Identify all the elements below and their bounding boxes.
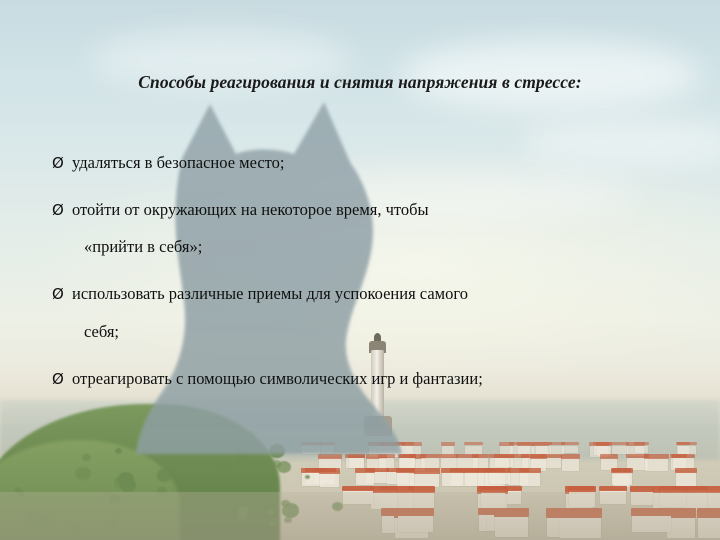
list-item: Øиспользовать различные приемы для успок… xyxy=(52,283,692,341)
bullet-marker-icon: Ø xyxy=(52,154,72,173)
list-item: Øотреагировать с помощью символических и… xyxy=(52,368,692,389)
list-item-text: отойти от окружающих на некоторое время,… xyxy=(72,200,429,219)
bullet-marker-icon: Ø xyxy=(52,370,72,389)
list-item: Øотойти от окружающих на некоторое время… xyxy=(52,199,692,257)
slide-content: Способы реагирования и снятия напряжения… xyxy=(0,0,720,540)
bullet-marker-icon: Ø xyxy=(52,201,72,220)
slide: Способы реагирования и снятия напряжения… xyxy=(0,0,720,540)
list-item-text: использовать различные приемы для успоко… xyxy=(72,284,468,303)
list-item: Øудаляться в безопасное место; xyxy=(52,152,692,173)
list-item-text: удаляться в безопасное место; xyxy=(72,153,285,172)
bullet-marker-icon: Ø xyxy=(52,285,72,304)
bullet-list: Øудаляться в безопасное место; Øотойти о… xyxy=(52,152,692,389)
page-title: Способы реагирования и снятия напряжения… xyxy=(0,72,720,93)
list-item-text-cont: «прийти в себя»; xyxy=(84,236,692,257)
list-item-text-cont: себя; xyxy=(84,321,692,342)
list-item-text: отреагировать с помощью символических иг… xyxy=(72,369,483,388)
